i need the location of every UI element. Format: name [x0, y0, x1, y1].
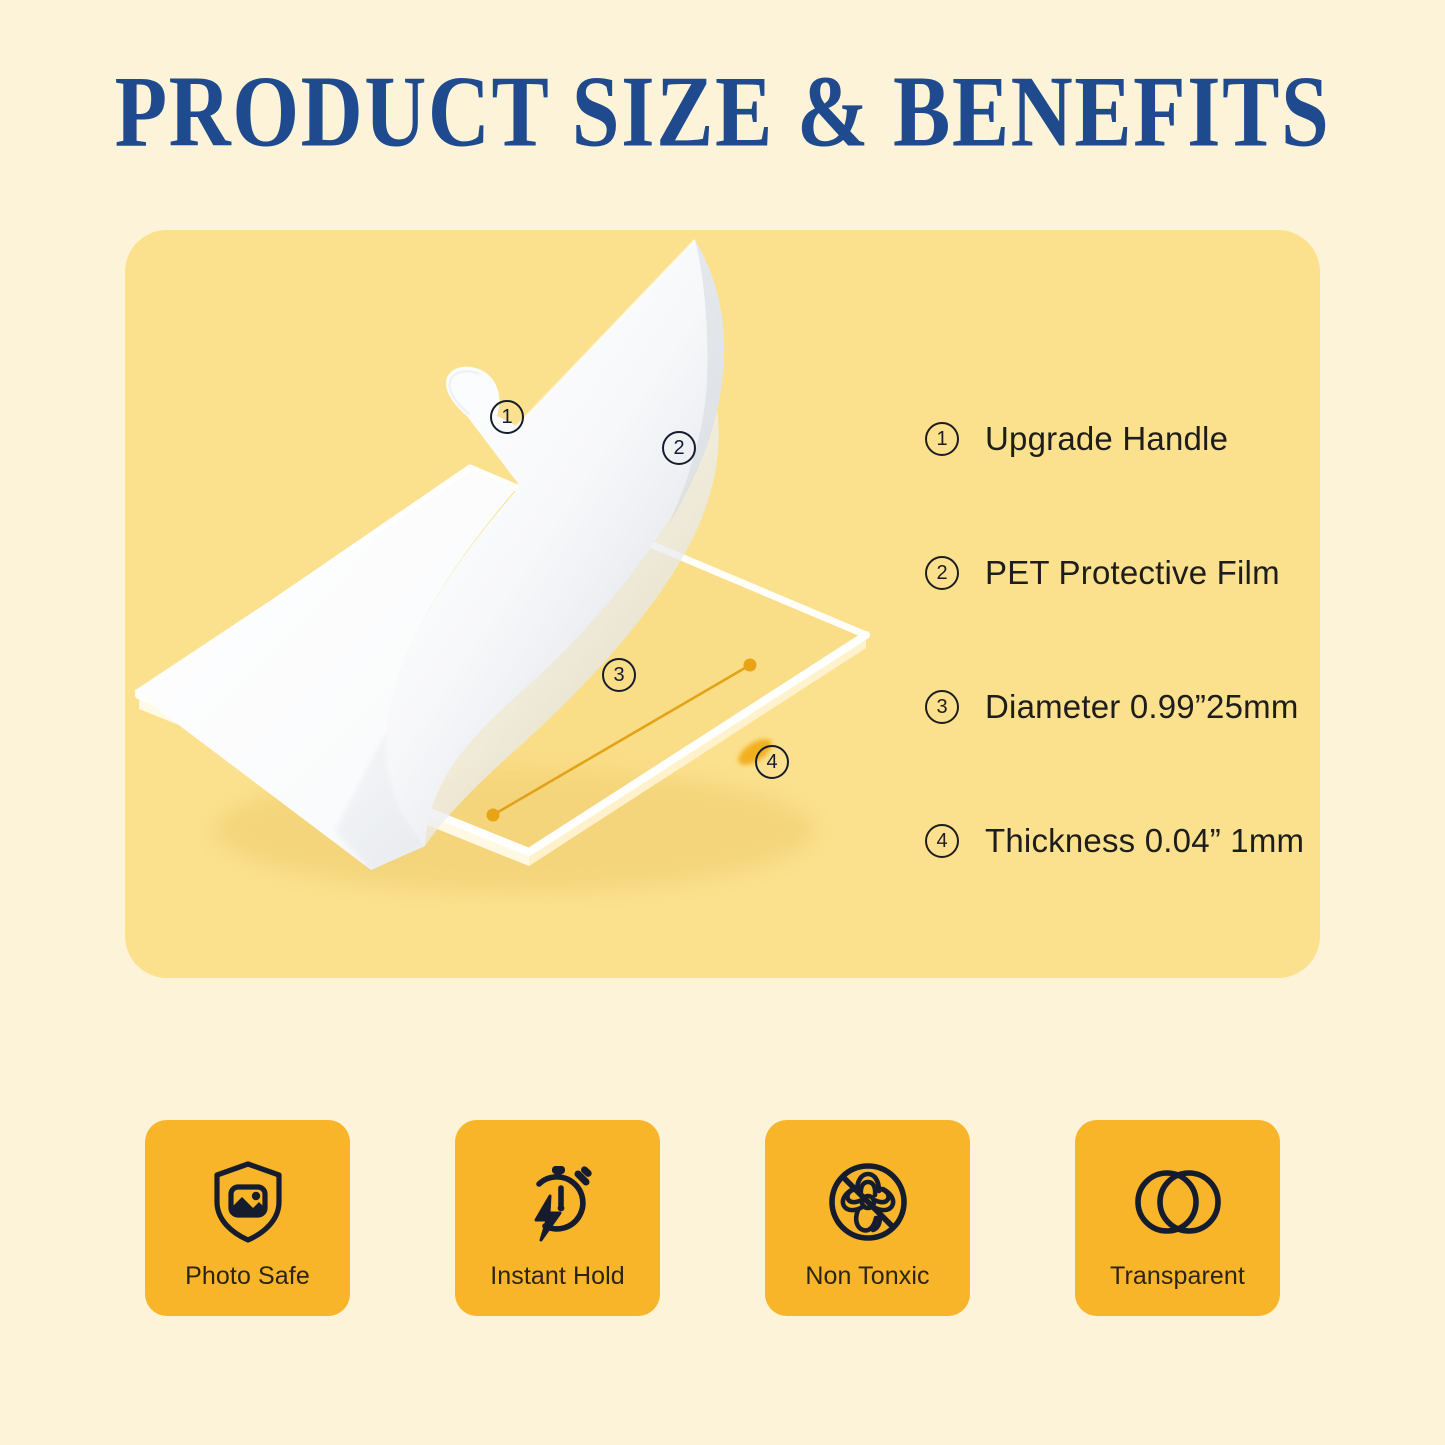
legend-number-1: 1	[925, 422, 959, 456]
legend-label-4: Thickness 0.04” 1mm	[985, 822, 1304, 860]
callout-marker-1: 1	[490, 400, 524, 434]
legend-item-pet-protective-film: 2 PET Protective Film	[925, 506, 1325, 640]
feature-badge-instant-hold: Instant Hold	[455, 1120, 660, 1316]
legend-number-2: 2	[925, 556, 959, 590]
feature-label-instant-hold: Instant Hold	[490, 1262, 625, 1291]
legend-label-1: Upgrade Handle	[985, 420, 1228, 458]
callout-marker-4: 4	[755, 745, 789, 779]
legend-item-diameter: 3 Diameter 0.99”25mm	[925, 640, 1325, 774]
page-title: PRODUCT SIZE & BENEFITS	[0, 58, 1445, 165]
overlapping-circles-icon	[1130, 1154, 1226, 1250]
legend-number-3: 3	[925, 690, 959, 724]
legend-label-2: PET Protective Film	[985, 554, 1280, 592]
feature-badge-row: Photo Safe Instant Hold	[145, 1120, 1280, 1316]
legend-item-thickness: 4 Thickness 0.04” 1mm	[925, 774, 1325, 908]
legend-number-4: 4	[925, 824, 959, 858]
feature-badge-non-toxic: Non Tonxic	[765, 1120, 970, 1316]
feature-label-non-toxic: Non Tonxic	[805, 1262, 929, 1291]
no-biohazard-icon	[820, 1154, 916, 1250]
legend-label-3: Diameter 0.99”25mm	[985, 688, 1299, 726]
callout-marker-2: 2	[662, 431, 696, 465]
feature-badge-photo-safe: Photo Safe	[145, 1120, 350, 1316]
legend-item-upgrade-handle: 1 Upgrade Handle	[925, 372, 1325, 506]
stopwatch-bolt-icon	[510, 1154, 606, 1250]
feature-label-photo-safe: Photo Safe	[185, 1262, 310, 1291]
shield-photo-icon	[200, 1154, 296, 1250]
callout-marker-3: 3	[602, 658, 636, 692]
spec-legend: 1 Upgrade Handle 2 PET Protective Film 3…	[925, 372, 1325, 908]
feature-badge-transparent: Transparent	[1075, 1120, 1280, 1316]
feature-label-transparent: Transparent	[1110, 1262, 1245, 1291]
